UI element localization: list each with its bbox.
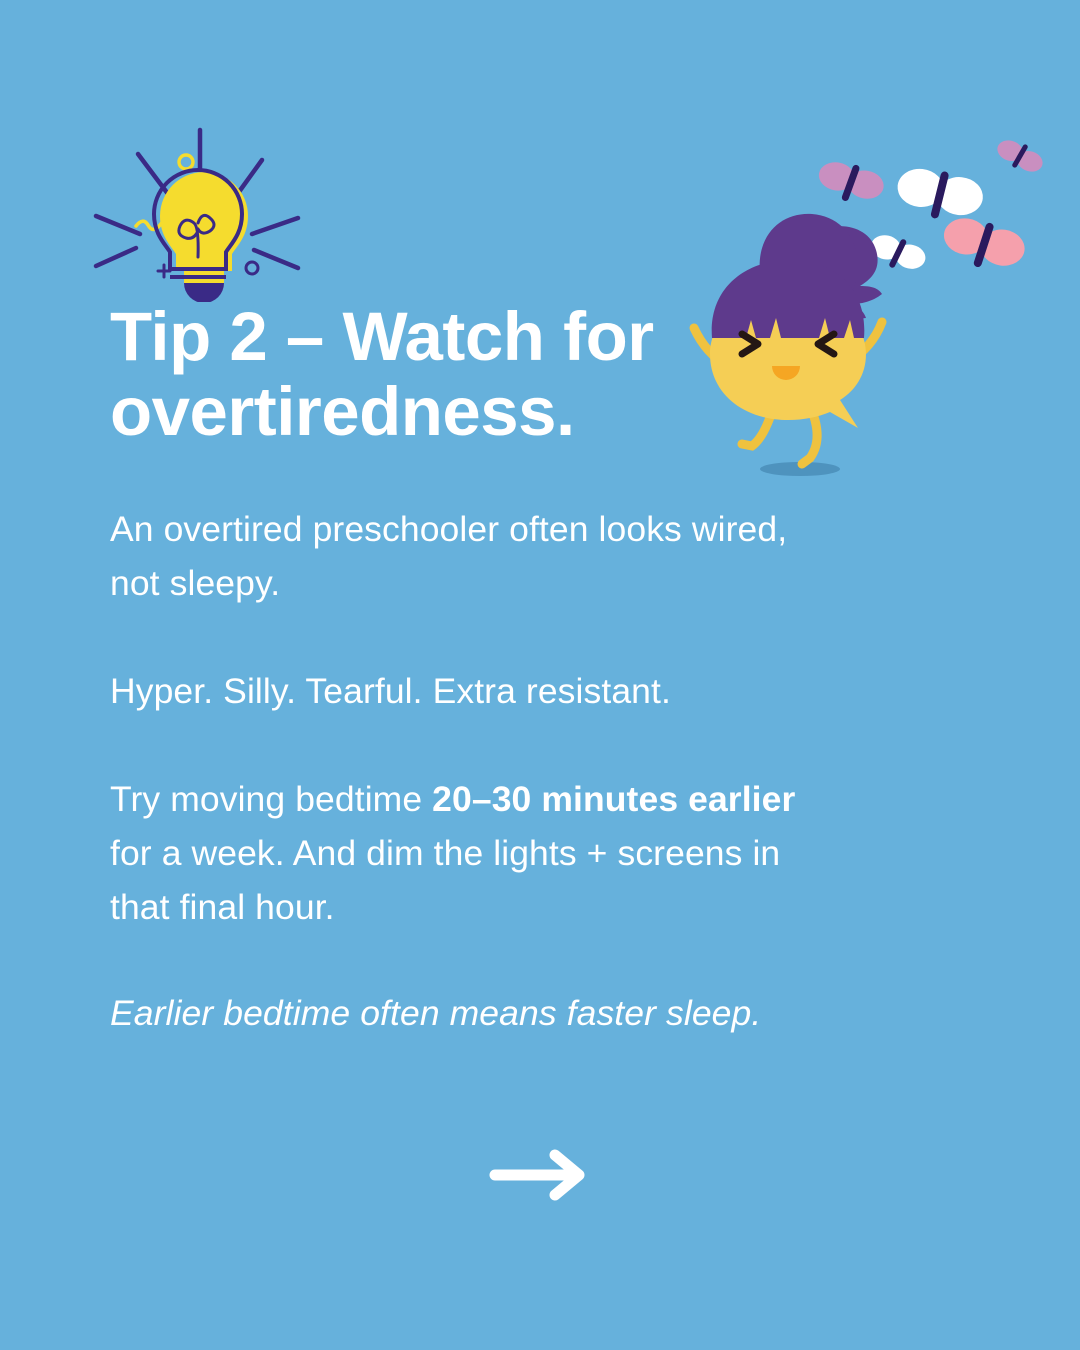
lightbulb-icon	[92, 122, 302, 302]
page-title: Tip 2 – Watch for overtiredness.	[110, 300, 710, 449]
paragraph-3-trailing-text: for a week. And dim the lights + screens…	[110, 833, 780, 927]
paragraph-3-emphasis: 20–30 minutes earlier	[432, 779, 795, 819]
slide-card: Tip 2 – Watch for overtiredness. An over…	[0, 0, 1080, 1350]
arrow-right-icon[interactable]	[487, 1143, 591, 1207]
body-paragraph-3: Try moving bedtime 20–30 minutes earlier…	[110, 773, 810, 935]
body-paragraph-1: An overtired preschooler often looks wir…	[110, 503, 810, 611]
paragraph-3-lead-text: Try moving bedtime	[110, 779, 432, 819]
body-paragraph-2: Hyper. Silly. Tearful. Extra resistant.	[110, 665, 810, 719]
text-column: Tip 2 – Watch for overtiredness. An over…	[110, 300, 910, 1041]
closing-italic-line: Earlier bedtime often means faster sleep…	[110, 987, 810, 1041]
